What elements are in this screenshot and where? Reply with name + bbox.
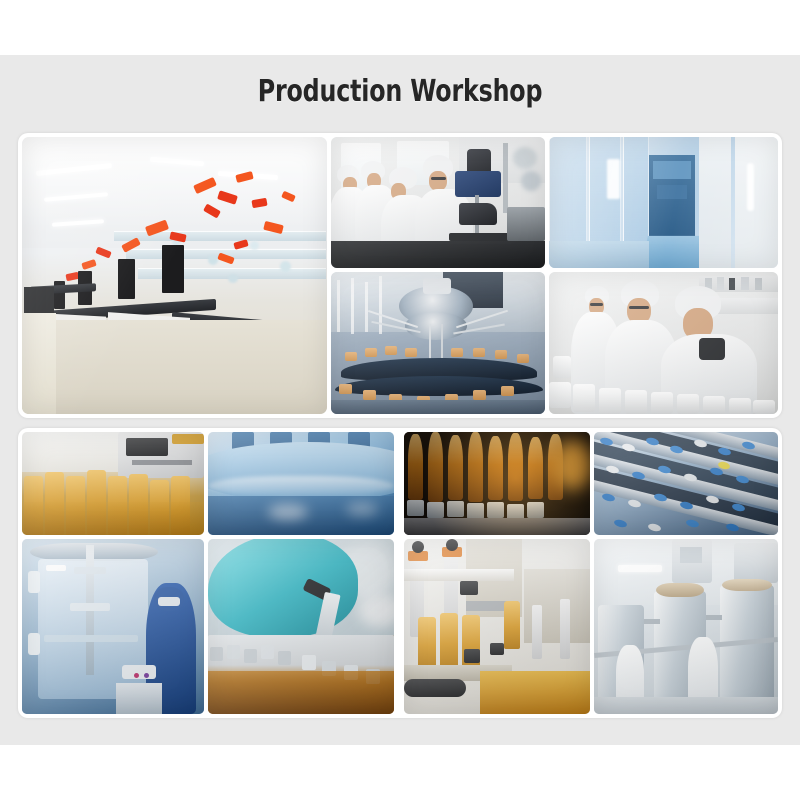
gallery-tile-bottle-capping-line[interactable] [404, 539, 590, 714]
gallery-tile-gloved-hand-vials[interactable] [208, 539, 394, 714]
gallery-tile-rotary-filling-machine[interactable] [331, 272, 545, 414]
gallery-tile-blue-white-capsules[interactable] [594, 432, 778, 535]
gallery-tile-workers-inspecting-jars[interactable] [549, 272, 778, 414]
gallery-tile-workers-equipment[interactable] [331, 137, 545, 268]
gallery-tile-clean-corridor[interactable] [549, 137, 778, 268]
page-root: Production Workshop [0, 0, 800, 800]
gallery-tile-blue-machine-detail[interactable] [208, 432, 394, 535]
gallery-tile-amber-bottles-line[interactable] [22, 432, 204, 535]
page-title: Production Workshop [48, 74, 752, 109]
gallery-tile-reactor-vessel-operator[interactable] [22, 539, 204, 714]
bottom-collage-card [18, 428, 782, 718]
top-collage-card [18, 133, 782, 418]
gallery-tile-stainless-reactor-hall[interactable] [594, 539, 778, 714]
gallery-tile-lab-overview[interactable] [22, 137, 327, 414]
gallery-tile-amber-ampoules[interactable] [404, 432, 590, 535]
